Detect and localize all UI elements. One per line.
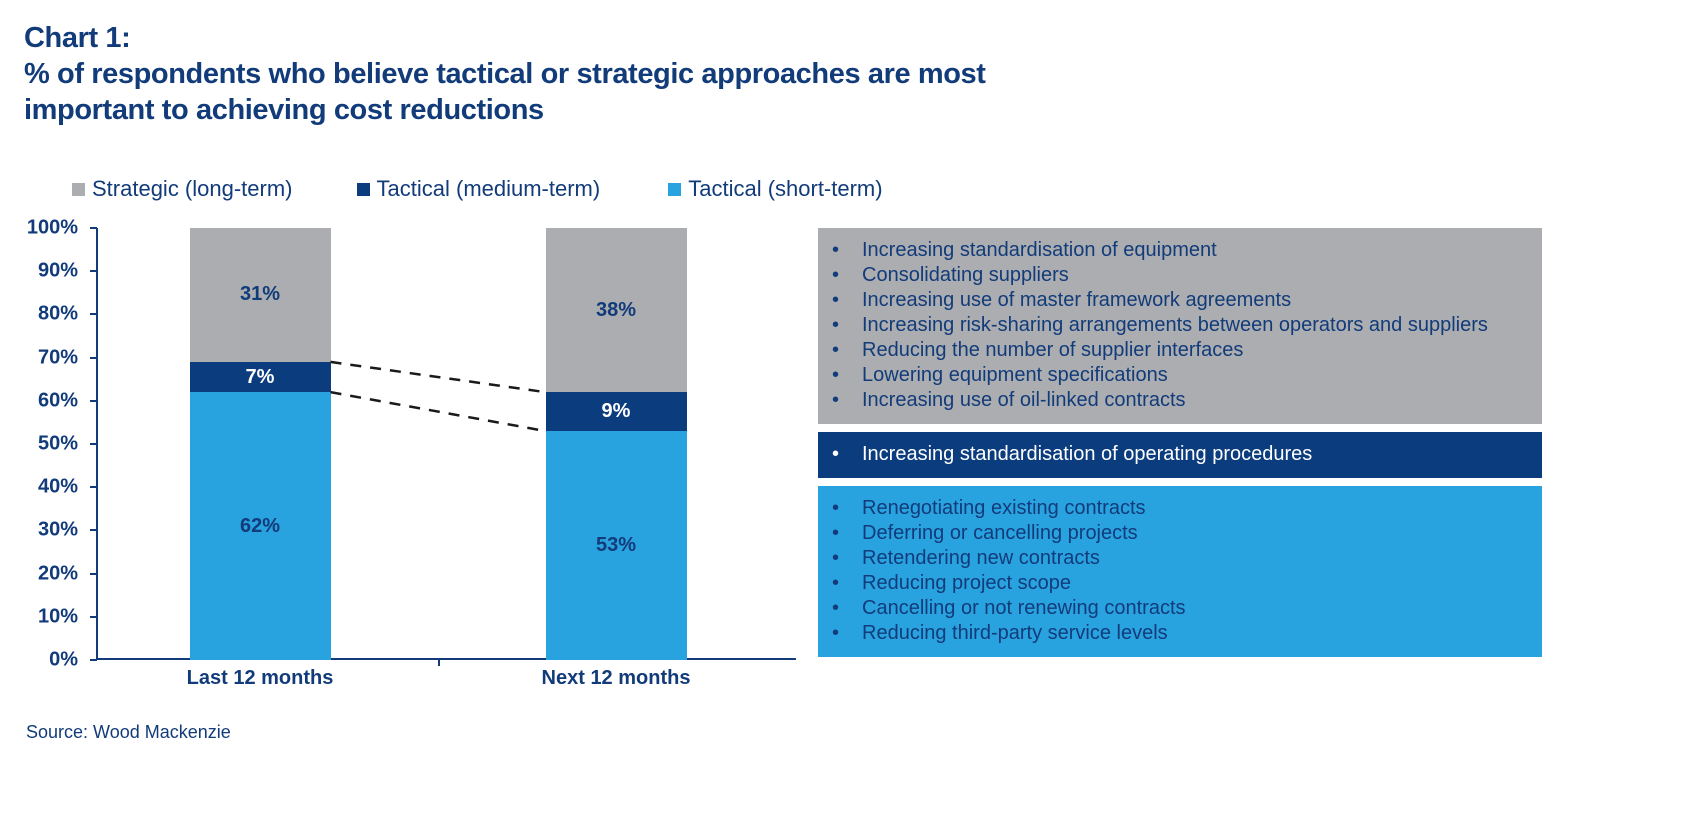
bar-segment-value-label: 53% — [596, 534, 636, 557]
list-item-label: Increasing risk-sharing arrangements bet… — [862, 313, 1488, 338]
list-item: •Reducing the number of supplier interfa… — [832, 338, 1528, 363]
bar-segment: 62% — [190, 392, 331, 660]
legend-swatch-icon — [357, 183, 370, 196]
bar-0: 31%7%62% — [190, 228, 331, 660]
y-axis-tick-label: 0% — [0, 649, 78, 672]
bar-segment-value-label: 9% — [602, 400, 631, 423]
y-axis-tick-label: 40% — [0, 476, 78, 499]
legend-label: Strategic (long-term) — [92, 176, 293, 202]
list-item: •Consolidating suppliers — [832, 263, 1528, 288]
y-axis-tick-label: 30% — [0, 519, 78, 542]
list-item-label: Lowering equipment specifications — [862, 363, 1168, 388]
plot-area: 31%7%62%38%9%53% — [96, 228, 796, 660]
x-axis-category-label: Last 12 months — [140, 667, 380, 690]
category-panels: •Increasing standardisation of equipment… — [818, 228, 1542, 657]
legend-swatch-icon — [72, 183, 85, 196]
list-item: •Reducing third-party service levels — [832, 621, 1528, 646]
bar-segment-value-label: 31% — [240, 283, 280, 306]
bar-segment: 9% — [546, 392, 687, 431]
y-axis-tick-label: 60% — [0, 389, 78, 412]
y-axis-tick-label: 70% — [0, 346, 78, 369]
panel-tactical-short: •Renegotiating existing contracts•Deferr… — [818, 486, 1542, 657]
list-item: •Reducing project scope — [832, 571, 1528, 596]
bullet-icon: • — [832, 313, 862, 338]
bullet-icon: • — [832, 238, 862, 263]
y-axis-tick-label: 90% — [0, 260, 78, 283]
title-line-2: % of respondents who believe tactical or… — [24, 56, 1224, 92]
list-item: •Increasing risk-sharing arrangements be… — [832, 313, 1528, 338]
panel-strategic: •Increasing standardisation of equipment… — [818, 228, 1542, 424]
legend-label: Tactical (short-term) — [688, 176, 882, 202]
y-axis-tick-label: 20% — [0, 562, 78, 585]
title-line-1: Chart 1: — [24, 20, 1224, 56]
legend-swatch-icon — [668, 183, 681, 196]
list-item-label: Deferring or cancelling projects — [862, 521, 1138, 546]
list-item-label: Increasing standardisation of operating … — [862, 442, 1312, 467]
legend-item-1: Tactical (medium-term) — [357, 176, 601, 202]
list-item: •Increasing use of oil-linked contracts — [832, 388, 1528, 413]
bullet-icon: • — [832, 388, 862, 413]
list-item: •Increasing standardisation of operating… — [832, 442, 1528, 467]
list-item-label: Renegotiating existing contracts — [862, 496, 1146, 521]
bar-segment-value-label: 62% — [240, 515, 280, 538]
list-item: •Increasing standardisation of equipment — [832, 238, 1528, 263]
x-axis-tick-mark — [438, 658, 440, 666]
bar-segment-value-label: 7% — [246, 366, 275, 389]
bullet-icon: • — [832, 442, 862, 467]
list-item: •Renegotiating existing contracts — [832, 496, 1528, 521]
list-item-label: Retendering new contracts — [862, 546, 1100, 571]
bullet-icon: • — [832, 596, 862, 621]
legend-item-2: Tactical (short-term) — [668, 176, 882, 202]
list-item: •Lowering equipment specifications — [832, 363, 1528, 388]
stacked-bar-chart: 100%90%80%70%60%50%40%30%20%10%0% 31%7%6… — [0, 215, 820, 685]
bar-segment: 31% — [190, 228, 331, 362]
bullet-icon: • — [832, 496, 862, 521]
list-item: •Retendering new contracts — [832, 546, 1528, 571]
y-axis-tick-label: 80% — [0, 303, 78, 326]
list-item-label: Increasing use of master framework agree… — [862, 288, 1291, 313]
y-axis-tick-label: 10% — [0, 605, 78, 628]
legend-label: Tactical (medium-term) — [377, 176, 601, 202]
y-axis-tick-label: 100% — [0, 217, 78, 240]
legend-item-0: Strategic (long-term) — [72, 176, 293, 202]
list-item-label: Reducing the number of supplier interfac… — [862, 338, 1243, 363]
list-item-label: Consolidating suppliers — [862, 263, 1069, 288]
source-note: Source: Wood Mackenzie — [26, 722, 231, 743]
bar-segment: 38% — [546, 228, 687, 392]
x-axis-category-label: Next 12 months — [496, 667, 736, 690]
bar-segment: 7% — [190, 362, 331, 392]
bar-segment-value-label: 38% — [596, 299, 636, 322]
title-line-3: important to achieving cost reductions — [24, 92, 1224, 128]
list-item: •Increasing use of master framework agre… — [832, 288, 1528, 313]
bullet-icon: • — [832, 621, 862, 646]
y-axis-tick-label: 50% — [0, 433, 78, 456]
chart-legend: Strategic (long-term)Tactical (medium-te… — [72, 176, 883, 202]
list-item-label: Cancelling or not renewing contracts — [862, 596, 1186, 621]
bullet-icon: • — [832, 521, 862, 546]
bar-segment: 53% — [546, 431, 687, 660]
bullet-icon: • — [832, 546, 862, 571]
bullet-icon: • — [832, 338, 862, 363]
panel-tactical-medium: •Increasing standardisation of operating… — [818, 432, 1542, 478]
list-item-label: Increasing standardisation of equipment — [862, 238, 1217, 263]
list-item-label: Reducing third-party service levels — [862, 621, 1168, 646]
page-title: Chart 1: % of respondents who believe ta… — [24, 20, 1224, 128]
list-item: •Deferring or cancelling projects — [832, 521, 1528, 546]
bullet-icon: • — [832, 263, 862, 288]
list-item-label: Reducing project scope — [862, 571, 1071, 596]
bar-1: 38%9%53% — [546, 228, 687, 660]
list-item: •Cancelling or not renewing contracts — [832, 596, 1528, 621]
bullet-icon: • — [832, 571, 862, 596]
list-item-label: Increasing use of oil-linked contracts — [862, 388, 1186, 413]
bullet-icon: • — [832, 288, 862, 313]
bullet-icon: • — [832, 363, 862, 388]
